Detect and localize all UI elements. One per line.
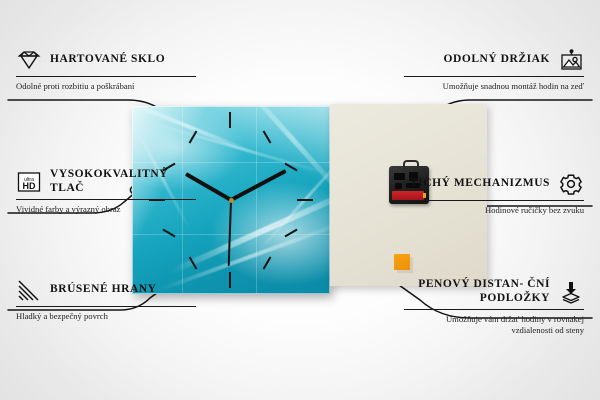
infographic-canvas: HARTOVANÉ SKLO Odolné proti rozbitiu a p…	[0, 0, 600, 400]
clock-minute-hand	[230, 169, 287, 202]
divider	[16, 199, 196, 200]
tick-12	[229, 112, 231, 128]
divider	[404, 200, 584, 201]
divider	[16, 306, 196, 307]
feature-description: Vividné farby a výrazný obraz	[16, 204, 196, 215]
feature-description: Umožňuje snadnou montáž hodin na zeď	[404, 81, 584, 92]
feature-title: BRÚSENÉ HRANY	[50, 283, 157, 297]
product-photo-clock-face	[132, 106, 330, 294]
feature-title: ODOLNÝ DRŽIAK	[443, 53, 550, 67]
feature-polished-edges: BRÚSENÉ HRANY Hladký a bezpečný povrch	[16, 278, 196, 322]
feature-title: HARTOVANÉ SKLO	[50, 53, 165, 67]
feature-silent-mechanism: TICHÝ MECHANIZMUS Hodinové ručičky bez z…	[404, 172, 584, 216]
tick-1	[263, 130, 272, 143]
polished-edges-icon	[16, 278, 42, 302]
feature-tempered-glass: HARTOVANÉ SKLO Odolné proti rozbitiu a p…	[16, 48, 196, 92]
divider	[404, 76, 584, 77]
picture-hanger-icon	[558, 48, 584, 72]
orange-foam-spacer	[394, 254, 410, 270]
feature-title: VYSOKOKVALITNÝ TLAČ	[50, 168, 196, 195]
tick-8	[162, 229, 175, 238]
foam-spacer-icon	[558, 280, 584, 304]
diamond-icon	[16, 48, 42, 72]
gear-icon	[558, 172, 584, 196]
feature-durable-hanger: ODOLNÝ DRŽIAK Umožňuje snadnou montáž ho…	[404, 48, 584, 92]
tick-9	[149, 199, 165, 201]
tick-6	[229, 272, 231, 288]
feature-high-quality-print: ultra HD VYSOKOKVALITNÝ TLAČ Vividné far…	[16, 168, 196, 215]
feature-description: Hodinové ručičky bez zvuku	[404, 205, 584, 216]
feature-description: Hladký a bezpečný povrch	[16, 311, 196, 322]
ultra-hd-icon: ultra HD	[16, 170, 42, 194]
divider	[16, 76, 196, 77]
tick-4	[284, 229, 297, 238]
tick-3	[297, 199, 313, 201]
feature-description: Umožňuje vám držať hodiny v rovnakej vzd…	[404, 314, 584, 335]
feature-title: TICHÝ MECHANIZMUS	[410, 177, 550, 191]
feature-description: Odolné proti rozbitiu a poškrábaní	[16, 81, 196, 92]
tick-5	[263, 256, 272, 269]
clock-second-hand	[228, 200, 232, 266]
feature-foam-spacers: PENOVÝ DISTAN- ČNÍ PODLOŽKY Umožňuje vám…	[404, 278, 584, 335]
feature-title: PENOVÝ DISTAN- ČNÍ PODLOŽKY	[404, 278, 550, 305]
mechanism-hanger-loop	[403, 160, 419, 170]
divider	[404, 309, 584, 310]
svg-text:HD: HD	[23, 181, 36, 191]
clock-center-hub	[229, 198, 234, 203]
